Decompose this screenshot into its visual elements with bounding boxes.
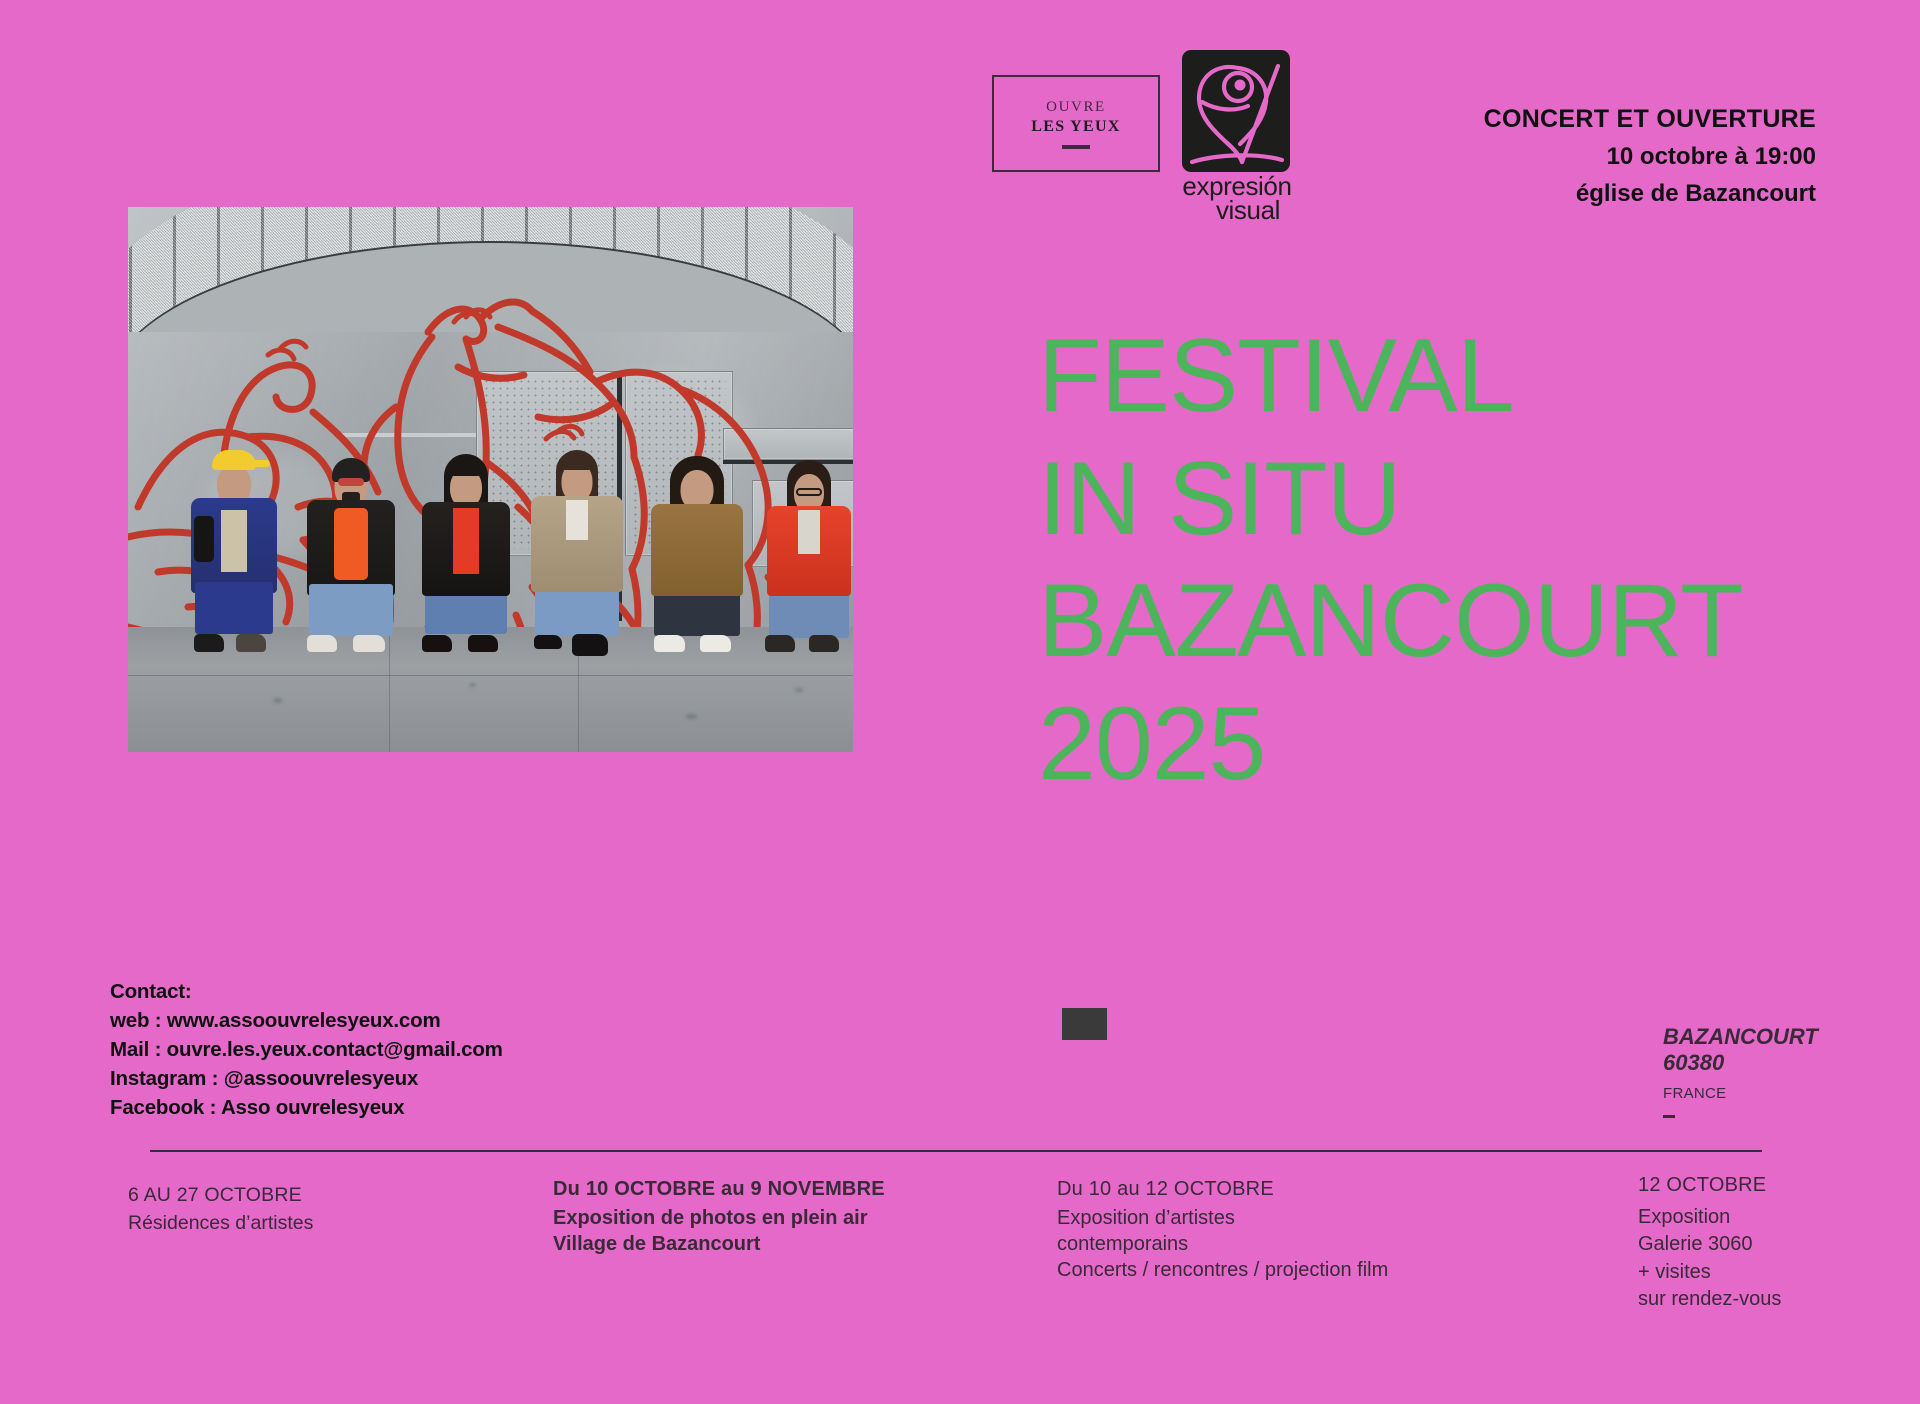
program-date: Du 10 OCTOBRE au 9 NOVEMBRE <box>553 1178 885 1201</box>
program-column-1: 6 AU 27 OCTOBRE Résidences d’artistes <box>128 1184 313 1236</box>
person-6 <box>763 462 853 648</box>
concert-venue: église de Bazancourt <box>1484 180 1816 208</box>
program-column-3: Du 10 au 12 OCTOBRE Exposition d’artiste… <box>1057 1178 1388 1283</box>
contact-block: Contact: web : www.assoouvrelesyeux.com … <box>110 977 503 1123</box>
program-line: Exposition de photos en plein air <box>553 1205 885 1231</box>
title-line-4: 2025 <box>1038 683 1743 806</box>
program-line: Galerie 3060 <box>1638 1231 1781 1259</box>
concert-heading: CONCERT ET OUVERTURE <box>1484 105 1816 134</box>
address-dash <box>1663 1115 1675 1118</box>
program-date: 6 AU 27 OCTOBRE <box>128 1184 313 1207</box>
contact-facebook[interactable]: Facebook : Asso ouvrelesyeux <box>110 1093 503 1122</box>
program-date: 12 OCTOBRE <box>1638 1172 1781 1200</box>
ouvre-les-yeux-logo: OUVRE LES YEUX <box>992 75 1160 172</box>
person-5 <box>648 458 746 648</box>
ouvre-line-1: OUVRE <box>1046 99 1106 116</box>
poster-title: FESTIVAL IN SITU BAZANCOURT 2025 <box>1038 315 1743 806</box>
horizontal-rule <box>150 1150 1762 1152</box>
dark-square-mark <box>1062 1008 1107 1040</box>
contact-web[interactable]: web : www.assoouvrelesyeux.com <box>110 1006 503 1035</box>
ouvre-line-2: LES YEUX <box>1031 118 1120 136</box>
program-column-2: Du 10 OCTOBRE au 9 NOVEMBRE Exposition d… <box>553 1178 885 1257</box>
title-line-2: IN SITU <box>1038 438 1743 561</box>
address-country: FRANCE <box>1663 1085 1818 1102</box>
poster-canvas: OUVRE LES YEUX expresión visual <box>0 0 1920 1404</box>
concert-info-block: CONCERT ET OUVERTURE 10 octobre à 19:00 … <box>1484 105 1816 208</box>
contact-label: Contact: <box>110 977 503 1006</box>
contact-mail[interactable]: Mail : ouvre.les.yeux.contact@gmail.com <box>110 1035 503 1064</box>
contact-instagram[interactable]: Instagram : @assoouvrelesyeux <box>110 1064 503 1093</box>
program-line: Exposition d’artistes <box>1057 1205 1388 1231</box>
program-line: contemporains <box>1057 1231 1388 1257</box>
address-block: BAZANCOURT 60380 FRANCE <box>1663 1024 1818 1118</box>
program-line: sur rendez-vous <box>1638 1286 1781 1314</box>
program-line: + visites <box>1638 1259 1781 1287</box>
address-city: BAZANCOURT <box>1663 1024 1818 1050</box>
expresion-visual-logo: expresión visual <box>1182 50 1292 223</box>
program-line: Résidences d’artistes <box>128 1211 313 1236</box>
person-1 <box>188 458 280 648</box>
program-line: Village de Bazancourt <box>553 1231 885 1257</box>
expresion-eye-pin-icon <box>1182 50 1290 172</box>
program-line: Concerts / rencontres / projection film <box>1057 1257 1388 1283</box>
program-line: Exposition <box>1638 1204 1781 1232</box>
ouvre-dash <box>1062 145 1090 149</box>
person-3 <box>418 456 513 648</box>
program-column-4: 12 OCTOBRE Exposition Galerie 3060 + vis… <box>1638 1172 1781 1314</box>
address-postcode: 60380 <box>1663 1050 1818 1076</box>
person-2 <box>303 458 398 648</box>
title-line-1: FESTIVAL <box>1038 315 1743 438</box>
concert-datetime: 10 octobre à 19:00 <box>1484 143 1816 171</box>
expresion-word-2: visual <box>1204 199 1292 223</box>
festival-photo <box>128 207 853 752</box>
title-line-3: BAZANCOURT <box>1038 560 1743 683</box>
expresion-wordmark: expresión visual <box>1182 175 1292 223</box>
program-date: Du 10 au 12 OCTOBRE <box>1057 1178 1388 1201</box>
person-4 <box>528 452 626 648</box>
